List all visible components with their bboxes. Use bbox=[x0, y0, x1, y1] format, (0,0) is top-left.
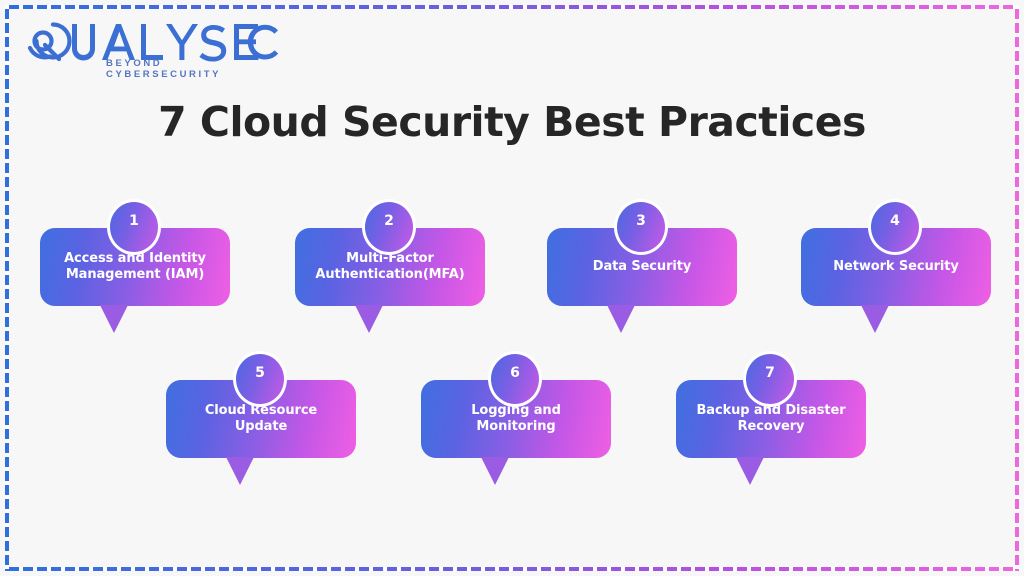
card-tail-7 bbox=[736, 457, 764, 485]
practice-card-5[interactable]: 5 Cloud Resource Update bbox=[166, 380, 356, 458]
card-label-5: Cloud Resource Update bbox=[174, 403, 348, 436]
card-number-badge-3: 3 bbox=[614, 199, 668, 255]
card-label-line-1: Backup and Disaster bbox=[684, 403, 858, 419]
card-number-badge-4: 4 bbox=[868, 199, 922, 255]
practice-card-1[interactable]: 1 Access and Identity Management (IAM) bbox=[40, 228, 230, 306]
frame-top-edge bbox=[5, 5, 1019, 9]
frame-left-edge bbox=[5, 5, 9, 571]
card-label-line-2: Authentication(MFA) bbox=[303, 267, 477, 283]
qualysec-logo: BEYOND CYBERSECURITY bbox=[20, 18, 280, 76]
card-tail-2 bbox=[355, 305, 383, 333]
practice-card-2[interactable]: 2 Multi-Factor Authentication(MFA) bbox=[295, 228, 485, 306]
card-label-line-1: Network Security bbox=[809, 259, 983, 275]
card-label-line-1: Data Security bbox=[555, 259, 729, 275]
card-tail-1 bbox=[100, 305, 128, 333]
card-label-line-1: Access and Identity bbox=[48, 251, 222, 267]
card-number-7: 7 bbox=[765, 365, 775, 381]
card-number-2: 2 bbox=[384, 213, 394, 229]
card-tail-5 bbox=[226, 457, 254, 485]
practice-card-4[interactable]: 4 Network Security bbox=[801, 228, 991, 306]
card-tail-3 bbox=[607, 305, 635, 333]
practice-card-3[interactable]: 3 Data Security bbox=[547, 228, 737, 306]
card-label-line-1: Cloud Resource bbox=[174, 403, 348, 419]
page-title: 7 Cloud Security Best Practices bbox=[0, 98, 1024, 146]
card-number-5: 5 bbox=[255, 365, 265, 381]
card-tail-4 bbox=[861, 305, 889, 333]
card-label-6: Logging and Monitoring bbox=[429, 403, 603, 436]
card-label-line-2: Update bbox=[174, 419, 348, 435]
card-number-1: 1 bbox=[129, 213, 139, 229]
card-number-badge-6: 6 bbox=[488, 351, 542, 407]
practice-card-7[interactable]: 7 Backup and Disaster Recovery bbox=[676, 380, 866, 458]
card-number-6: 6 bbox=[510, 365, 520, 381]
frame-bottom-edge bbox=[5, 567, 1019, 571]
card-number-4: 4 bbox=[890, 213, 900, 229]
frame-right-edge bbox=[1015, 5, 1019, 571]
practice-card-6[interactable]: 6 Logging and Monitoring bbox=[421, 380, 611, 458]
card-number-badge-2: 2 bbox=[362, 199, 416, 255]
card-label-line-2: Monitoring bbox=[429, 419, 603, 435]
card-label-3: Data Security bbox=[555, 259, 729, 275]
logo-tagline: BEYOND CYBERSECURITY bbox=[106, 58, 280, 80]
card-label-line-2: Recovery bbox=[684, 419, 858, 435]
card-tail-6 bbox=[481, 457, 509, 485]
card-number-badge-1: 1 bbox=[107, 199, 161, 255]
infographic-canvas: BEYOND CYBERSECURITY 7 Cloud Security Be… bbox=[0, 0, 1024, 576]
card-number-badge-5: 5 bbox=[233, 351, 287, 407]
card-label-line-1: Logging and bbox=[429, 403, 603, 419]
card-label-4: Network Security bbox=[809, 259, 983, 275]
card-number-3: 3 bbox=[636, 213, 646, 229]
card-label-1: Access and Identity Management (IAM) bbox=[48, 251, 222, 284]
card-label-line-1: Multi-Factor bbox=[303, 251, 477, 267]
card-number-badge-7: 7 bbox=[743, 351, 797, 407]
card-label-7: Backup and Disaster Recovery bbox=[684, 403, 858, 436]
card-label-line-2: Management (IAM) bbox=[48, 267, 222, 283]
card-label-2: Multi-Factor Authentication(MFA) bbox=[303, 251, 477, 284]
